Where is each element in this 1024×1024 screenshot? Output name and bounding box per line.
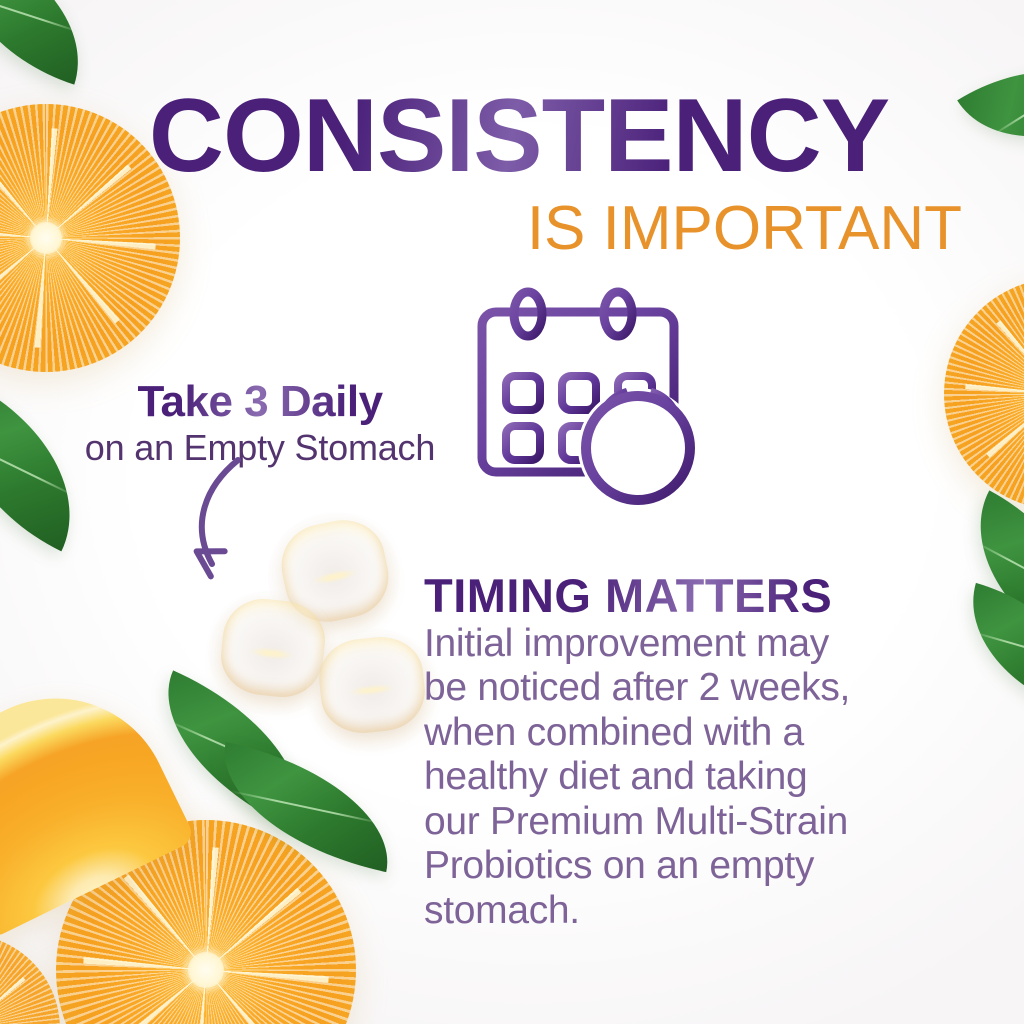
body-line: our Premium Multi-Strain [424,800,954,844]
body-line: Probiotics on an empty [424,844,954,888]
orange-segment-lines [965,299,1024,489]
section-body: Initial improvement may be noticed after… [424,622,954,933]
infographic-canvas: CONSISTENCY IS IMPORTANT [0,0,1024,1024]
calendar-clock-icon [470,286,700,506]
orange-core [30,222,62,254]
timing-section: TIMING MATTERS Initial improvement may b… [424,572,954,933]
page-title: CONSISTENCY [0,84,1024,188]
curved-arrow-icon [176,452,286,592]
body-line: Initial improvement may [424,622,954,666]
page-subtitle: IS IMPORTANT [527,198,962,260]
body-line: be noticed after 2 weeks, [424,666,954,710]
body-line: when combined with a [424,711,954,755]
body-line: stomach. [424,889,954,933]
body-line: healthy diet and taking [424,755,954,799]
orange-core [188,952,224,988]
section-title: TIMING MATTERS [424,572,954,620]
dosage-headline: Take 3 Daily [78,378,442,426]
